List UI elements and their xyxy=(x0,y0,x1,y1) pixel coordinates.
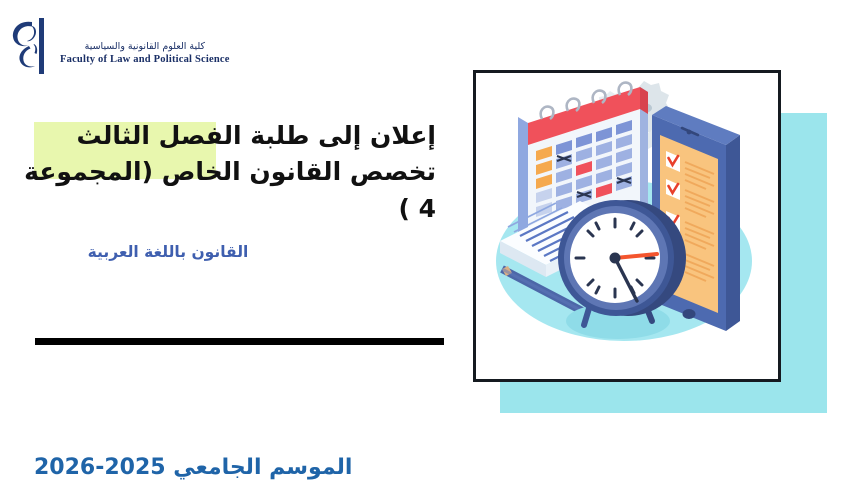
arabic-calligraphy-logo-mark-icon xyxy=(8,16,54,78)
horizontal-divider xyxy=(35,338,444,345)
page-title: إعلان إلى طلبة الفصل الثالث تخصص القانون… xyxy=(0,118,452,227)
faculty-logo-text: كلية العلوم القانونية والسياسية Faculty … xyxy=(60,27,230,67)
headline-line-1: إعلان إلى طلبة الفصل الثالث xyxy=(0,118,436,154)
headline-line-2: تخصص القانون الخاص (المجموعة 4 ) xyxy=(0,154,436,227)
isometric-schedule-illustration xyxy=(476,73,778,379)
faculty-name-arabic: كلية العلوم القانونية والسياسية xyxy=(85,41,205,53)
subtitle: القانون باللغة العربية xyxy=(0,243,336,261)
illustration-frame xyxy=(473,70,781,382)
clock-center-pin xyxy=(610,253,621,264)
academic-year-label: الموسم الجامعي 2025-2026 xyxy=(34,455,352,480)
poster-canvas: كلية العلوم القانونية والسياسية Faculty … xyxy=(0,0,860,500)
faculty-name-english: Faculty of Law and Political Science xyxy=(60,53,230,67)
faculty-logo: كلية العلوم القانونية والسياسية Faculty … xyxy=(8,12,268,82)
headline-block: إعلان إلى طلبة الفصل الثالث تخصص القانون… xyxy=(0,118,452,227)
